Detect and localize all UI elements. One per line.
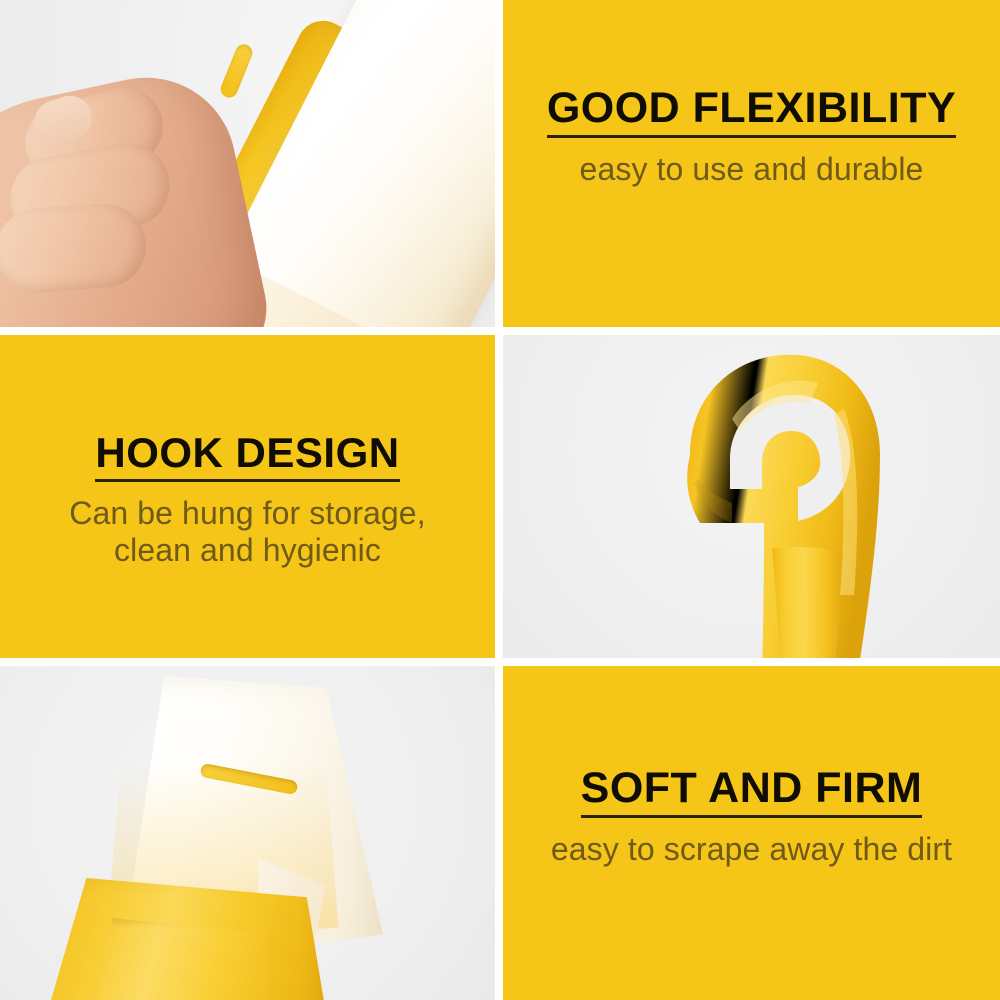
text-panel-soft-and-firm: SOFT AND FIRM easy to scrape away the di… <box>499 662 1000 1000</box>
subtitle-line-1: Can be hung for storage, <box>69 495 425 531</box>
feature-text-block: GOOD FLEXIBILITY easy to use and durable <box>503 86 1000 188</box>
text-panel-flexibility: GOOD FLEXIBILITY easy to use and durable <box>499 0 1000 331</box>
hook-recessed-panel <box>772 547 844 662</box>
feature-subtitle-flexibility: easy to use and durable <box>517 151 986 189</box>
product-feature-infographic: GOOD FLEXIBILITY easy to use and durable… <box>0 0 1000 1000</box>
photo-panel-hand-holding-squeegee <box>0 0 499 331</box>
subtitle-line-1: easy to use and durable <box>580 151 924 187</box>
feature-heading-soft-and-firm: SOFT AND FIRM <box>581 766 923 818</box>
text-panel-hook-design: HOOK DESIGN Can be hung for storage, cle… <box>0 331 499 662</box>
finger-ring <box>0 201 149 295</box>
feature-subtitle-soft-and-firm: easy to scrape away the dirt <box>517 831 986 869</box>
feature-text-block: HOOK DESIGN Can be hung for storage, cle… <box>0 431 495 570</box>
feature-heading-flexibility: GOOD FLEXIBILITY <box>547 86 956 138</box>
hook-product-image <box>612 343 912 662</box>
feature-heading-hook-design: HOOK DESIGN <box>95 431 399 482</box>
photo-panel-blade-closeup <box>0 662 499 1000</box>
photo-panel-yellow-hook <box>499 331 1000 662</box>
subtitle-line-2: clean and hygienic <box>14 532 481 570</box>
feature-subtitle-hook-design: Can be hung for storage, clean and hygie… <box>14 495 481 571</box>
subtitle-line-1: easy to scrape away the dirt <box>551 831 952 867</box>
hook-shape-icon <box>612 343 912 662</box>
feature-text-block: SOFT AND FIRM easy to scrape away the di… <box>503 766 1000 868</box>
